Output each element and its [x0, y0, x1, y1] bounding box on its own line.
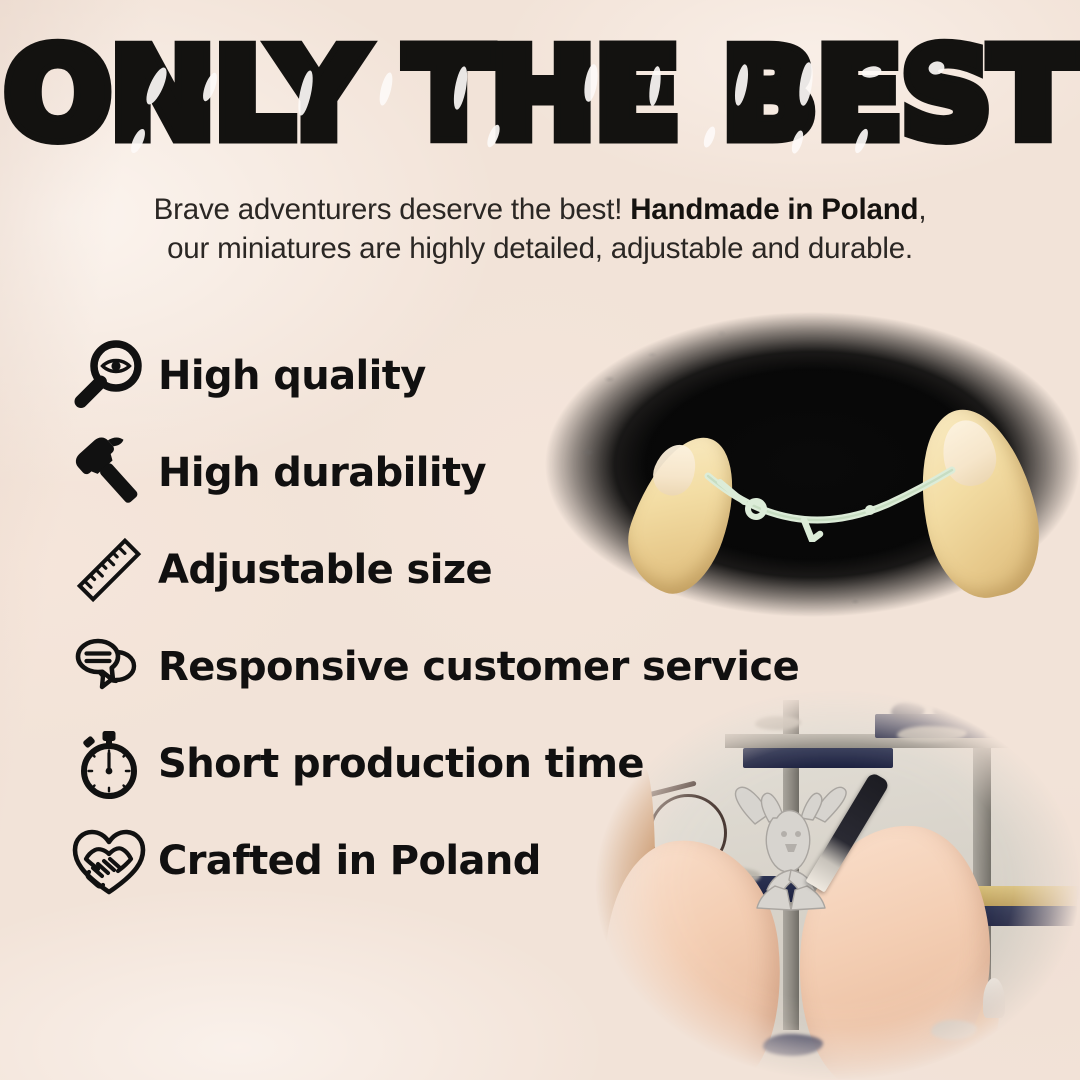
feature-label: High durability — [158, 450, 486, 496]
magnifier-eye-icon — [66, 333, 152, 419]
feature-label: High quality — [158, 353, 426, 399]
page-title: ONLY THE BEST — [5, 34, 1076, 157]
shelf-tray — [743, 748, 893, 768]
workshop-scene — [575, 690, 1080, 1080]
subtitle: Brave adventurers deserve the best! Hand… — [0, 190, 1080, 268]
feature-label: Responsive customer service — [158, 644, 799, 690]
feature-label: Short production time — [158, 741, 644, 787]
stopwatch-icon — [66, 721, 152, 807]
subtitle-line-2: our miniatures are highly detailed, adju… — [0, 229, 1080, 268]
headline-container: ONLY THE BEST — [0, 34, 1080, 157]
subtitle-line-1: Brave adventurers deserve the best! Hand… — [0, 190, 1080, 229]
poster-canvas: ONLY THE BEST Brave adventurers deserve … — [0, 0, 1080, 1080]
subtitle-comma: , — [918, 193, 926, 226]
speech-bubbles-icon — [66, 624, 152, 710]
feature-label: Crafted in Poland — [158, 838, 541, 884]
miniature-closeup-photo — [545, 312, 1080, 617]
subtitle-bold-phrase: Handmade in Poland — [630, 193, 918, 226]
workshop-painting-photo — [575, 690, 1080, 1080]
handshake-heart-icon — [66, 818, 152, 904]
ruler-icon — [66, 527, 152, 613]
feature-label: Adjustable size — [158, 547, 492, 593]
subtitle-lead: Brave adventurers deserve the best! — [154, 193, 623, 226]
hammer-icon — [66, 430, 152, 516]
miniature-chain — [700, 462, 976, 542]
